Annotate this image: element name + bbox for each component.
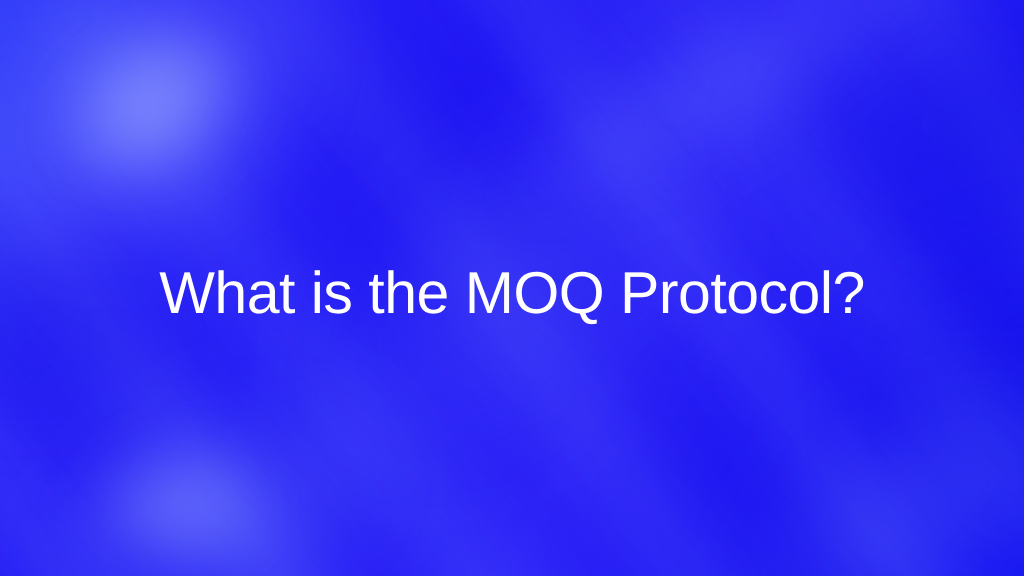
title-container: What is the MOQ Protocol? [0,0,1024,576]
slide-title: What is the MOQ Protocol? [159,264,865,323]
slide-canvas: What is the MOQ Protocol? [0,0,1024,576]
